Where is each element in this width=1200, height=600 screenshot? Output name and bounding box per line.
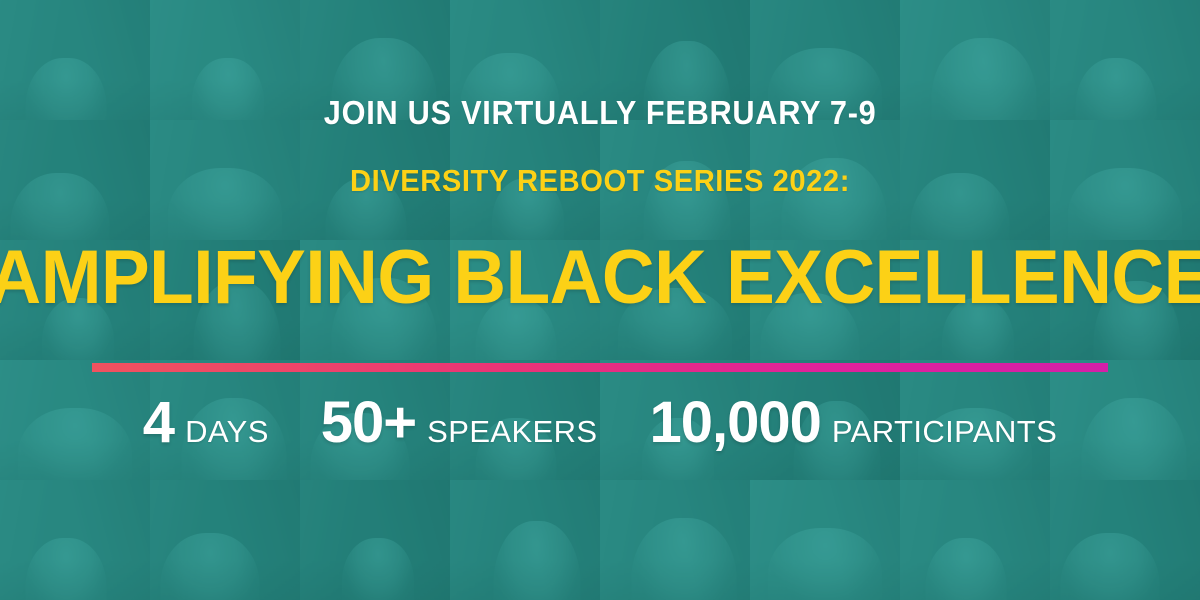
- stat-number: 4: [143, 394, 174, 452]
- stat-label: SPEAKERS: [427, 416, 597, 447]
- event-stats-row: 4 DAYS 50+ SPEAKERS 10,000 PARTICIPANTS: [143, 394, 1057, 452]
- banner-content: JOIN US VIRTUALLY FEBRUARY 7-9 DIVERSITY…: [0, 0, 1200, 600]
- stat-item-participants: 10,000 PARTICIPANTS: [650, 394, 1058, 452]
- gradient-divider: [92, 363, 1108, 372]
- main-headline: AMPLIFYING BLACK EXCELLENCE: [0, 240, 1200, 316]
- series-subtitle: DIVERSITY REBOOT SERIES 2022:: [350, 165, 850, 196]
- event-promo-banner: JOIN US VIRTUALLY FEBRUARY 7-9 DIVERSITY…: [0, 0, 1200, 600]
- stat-item-speakers: 50+ SPEAKERS: [321, 394, 598, 452]
- stat-number: 10,000: [650, 394, 821, 452]
- stat-item-days: 4 DAYS: [143, 394, 269, 452]
- stat-number: 50+: [321, 394, 416, 452]
- stat-label: DAYS: [185, 416, 269, 447]
- stat-label: PARTICIPANTS: [832, 416, 1057, 447]
- event-date-kicker: JOIN US VIRTUALLY FEBRUARY 7-9: [324, 96, 877, 129]
